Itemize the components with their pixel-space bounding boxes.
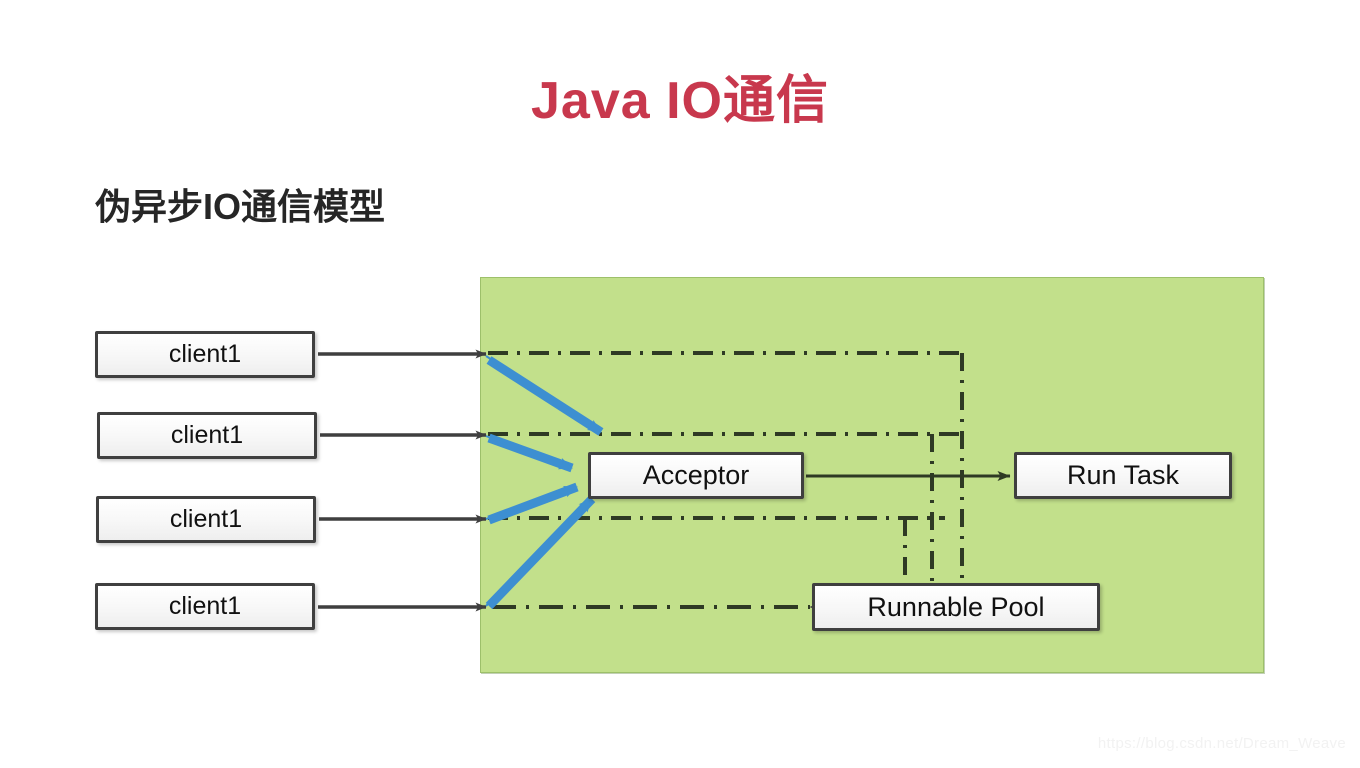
client-box[interactable]: client1 bbox=[95, 583, 315, 630]
run-task-label: Run Task bbox=[1067, 460, 1179, 491]
watermark: https://blog.csdn.net/Dream_Weave bbox=[1098, 735, 1346, 752]
runnable-pool-label: Runnable Pool bbox=[867, 592, 1044, 623]
client-box-label: client1 bbox=[171, 421, 243, 450]
runnable-pool-box[interactable]: Runnable Pool bbox=[812, 583, 1100, 631]
client-box-label: client1 bbox=[169, 340, 241, 369]
acceptor-box[interactable]: Acceptor bbox=[588, 452, 804, 499]
acceptor-label: Acceptor bbox=[643, 460, 750, 491]
client-box[interactable]: client1 bbox=[96, 496, 316, 543]
client-box-label: client1 bbox=[170, 505, 242, 534]
client-box-label: client1 bbox=[169, 592, 241, 621]
client-box[interactable]: client1 bbox=[97, 412, 317, 459]
slide-canvas: Java IO通信 伪异步IO通信模型 client1 client1 clie… bbox=[0, 0, 1360, 768]
run-task-box[interactable]: Run Task bbox=[1014, 452, 1232, 499]
client-link-group bbox=[318, 354, 486, 607]
client-box[interactable]: client1 bbox=[95, 331, 315, 378]
page-subtitle: 伪异步IO通信模型 bbox=[95, 178, 385, 230]
page-title: Java IO通信 bbox=[0, 74, 1360, 129]
